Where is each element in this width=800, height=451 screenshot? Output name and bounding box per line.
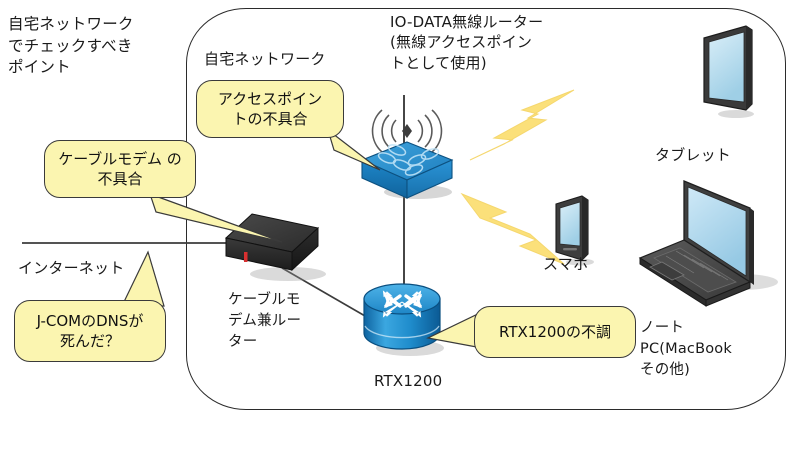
ap-fault-callout: アクセスポイン トの不具合 — [196, 80, 344, 138]
wifi-signal-bolt-tablet — [466, 88, 576, 168]
tablet-icon — [694, 22, 764, 122]
access-point-label: IO-DATA無線ルーター (無線アクセスポイン トとして使用) — [390, 12, 605, 73]
modem-fault-callout: ケーブルモデム の 不具合 — [44, 140, 196, 198]
rtx1200-label: RTX1200 — [374, 371, 442, 391]
access-point-icon — [352, 80, 462, 200]
laptop-label: ノート PC(MacBook その他) — [640, 318, 780, 381]
rtx1200-fault-callout: RTX1200の不調 — [474, 306, 636, 358]
tablet-label: タブレット — [655, 145, 731, 165]
cable-modem-icon — [216, 208, 336, 288]
internet-label: インターネット — [18, 258, 124, 278]
network-diagram-canvas: 自宅ネットワーク でチェックすべき ポイント 自宅ネットワーク インターネット … — [0, 0, 800, 451]
smartphone-label: スマホ — [543, 254, 588, 274]
laptop-icon — [632, 178, 792, 308]
dns-fault-callout: J-COMのDNSが 死んだ？ — [14, 300, 166, 362]
router-icon — [356, 282, 452, 364]
cable-modem-label: ケーブルモ デム兼ルー ター — [228, 290, 320, 353]
page-title: 自宅ネットワーク でチェックすべき ポイント — [8, 14, 188, 79]
home-network-boundary-label: 自宅ネットワーク — [204, 49, 326, 69]
